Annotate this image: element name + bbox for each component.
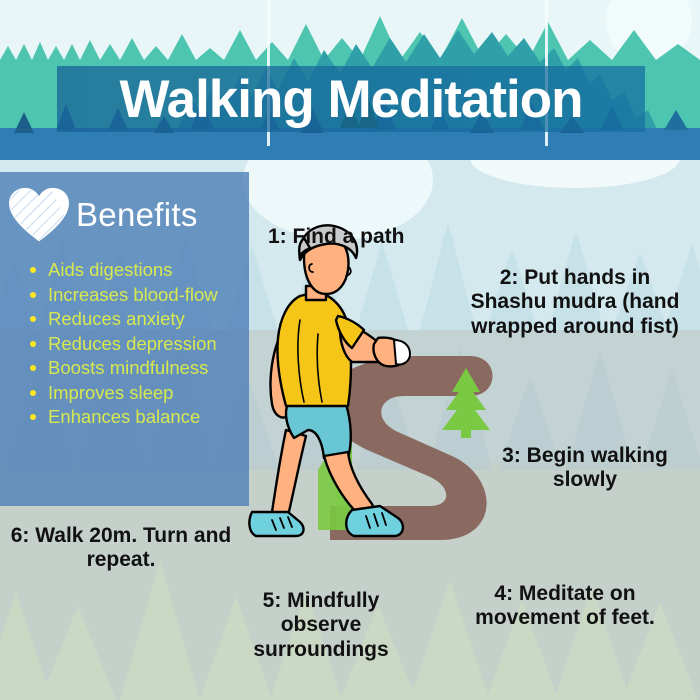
step-6-label: 6: Walk 20m. Turn and repeat.: [6, 524, 236, 573]
benefits-list: Aids digestions Increases blood-flow Red…: [0, 258, 249, 429]
benefit-item: Improves sleep: [30, 381, 241, 405]
step-4-label: 4: Meditate on movement of feet.: [440, 582, 690, 631]
step-5-label: 5: Mindfully observe surroundings: [232, 589, 410, 662]
benefit-item: Enhances balance: [30, 405, 241, 429]
step-1-label: 1: Find a path: [268, 225, 405, 249]
benefit-item: Aids digestions: [30, 258, 241, 282]
benefits-header: Benefits: [0, 182, 249, 244]
benefit-item: Reduces depression: [30, 332, 241, 356]
benefits-heading: Benefits: [76, 196, 198, 234]
benefit-item: Reduces anxiety: [30, 307, 241, 331]
step-2-label: 2: Put hands in Shashu mudra (hand wrapp…: [468, 266, 682, 339]
benefits-panel: Benefits Aids digestions Increases blood…: [0, 172, 249, 506]
benefit-item: Increases blood-flow: [30, 283, 241, 307]
infographic-poster: Walking Meditation: [0, 0, 700, 700]
heart-icon: [8, 186, 70, 244]
step-3-label: 3: Begin walking slowly: [482, 444, 688, 493]
benefit-item: Boosts mindfulness: [30, 356, 241, 380]
